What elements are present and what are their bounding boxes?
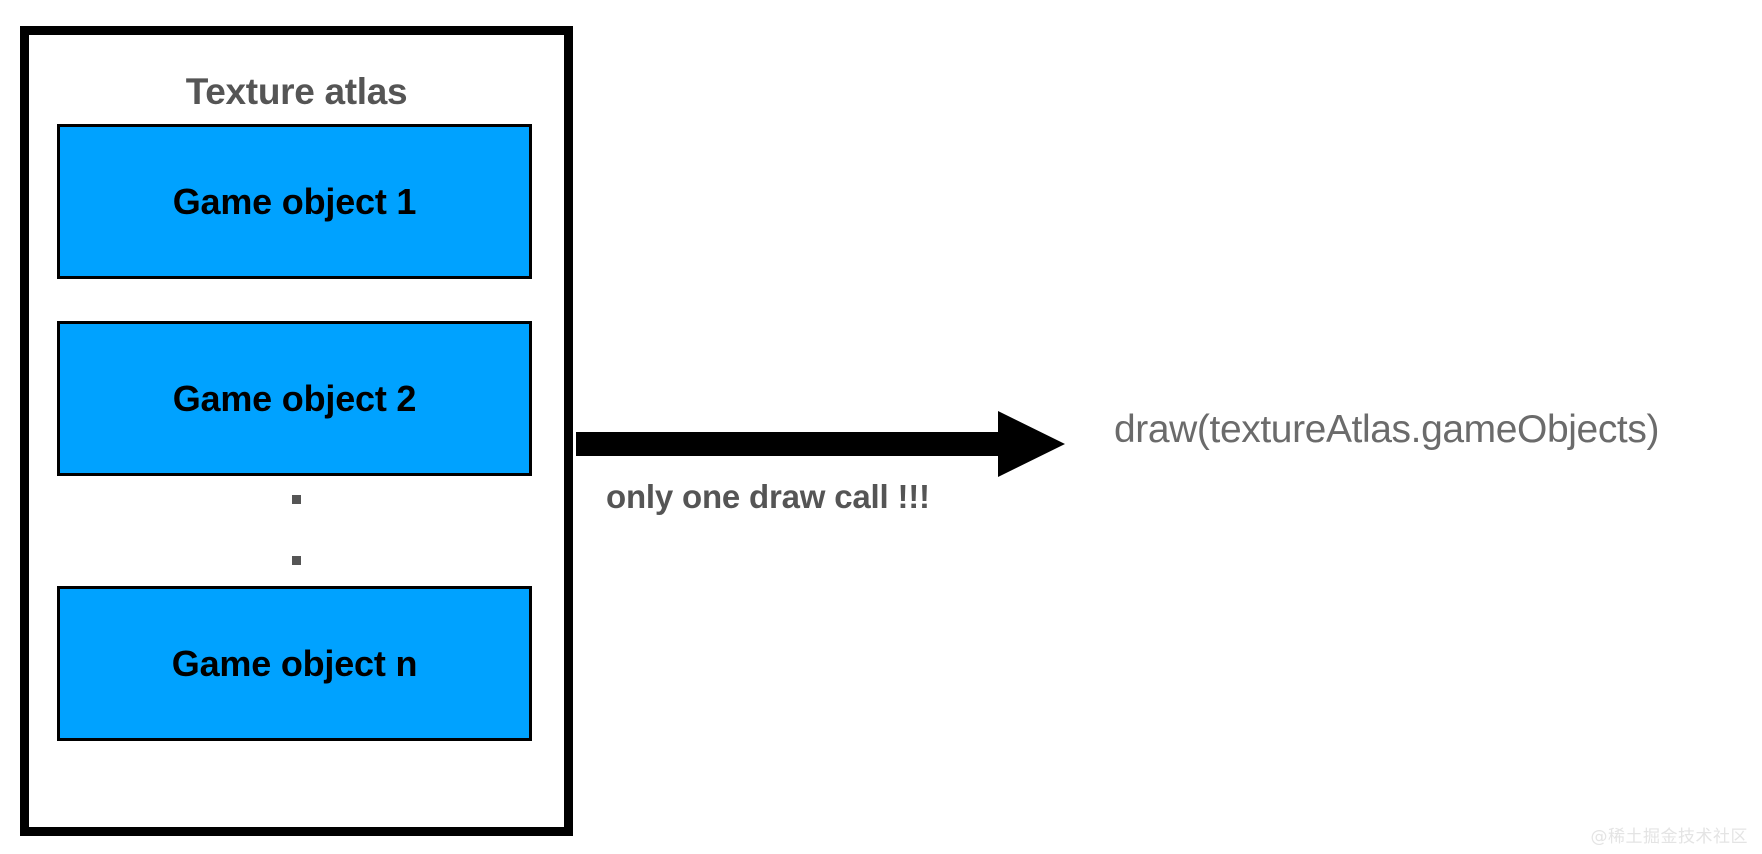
ellipsis-dot-icon [292, 495, 301, 504]
game-object-cell-2: Game object 2 [57, 321, 532, 476]
game-object-label: Game object 2 [173, 381, 417, 417]
texture-atlas-title: Texture atlas [29, 73, 564, 110]
ellipsis-dot-icon [292, 556, 301, 565]
draw-call-text: draw(textureAtlas.gameObjects) [1114, 410, 1659, 449]
arrow-caption: only one draw call !!! [606, 480, 930, 513]
watermark: @稀土掘金技术社区 [1591, 829, 1749, 846]
game-object-cell-1: Game object 1 [57, 124, 532, 279]
texture-atlas-container: Texture atlas Game object 1 Game object … [20, 26, 573, 836]
right-arrow-icon [576, 408, 1068, 480]
game-object-label: Game object n [172, 646, 417, 682]
diagram-canvas: Texture atlas Game object 1 Game object … [0, 0, 1762, 854]
game-object-label: Game object 1 [173, 184, 417, 220]
game-object-cell-n: Game object n [57, 586, 532, 741]
